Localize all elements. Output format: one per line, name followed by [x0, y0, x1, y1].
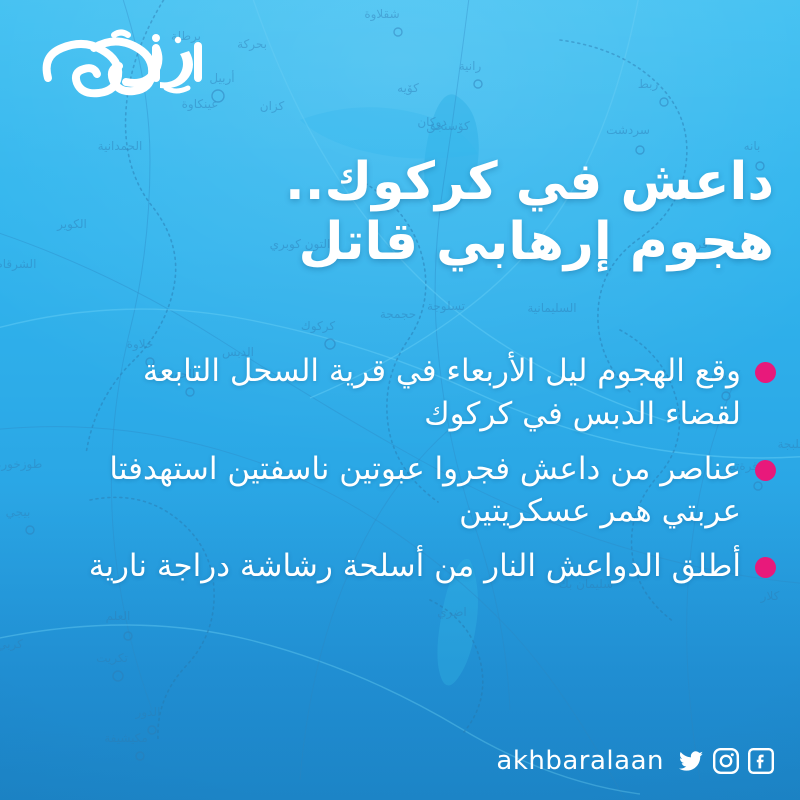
map-label: العلم [106, 609, 131, 623]
map-label: الشرقاط [0, 257, 36, 272]
akhbar-alaan-logo[interactable] [28, 26, 218, 104]
map-label: رانية [459, 59, 482, 74]
headline-line-1: داعش في كركوك.. [285, 152, 774, 212]
news-card: شقلاوةبحركةبرطلةرانيةأربيلكۆیەكۆسنجقعينك… [0, 0, 800, 800]
map-label: الكوير [56, 217, 87, 232]
map-label: طوزخورماتو [0, 457, 42, 472]
map-label: سردشت [606, 123, 650, 138]
bullet-text: أطلق الدواعش النار من أسلحة رشاشة دراجة … [76, 545, 741, 588]
map-label: تكريت [96, 651, 128, 666]
bullet-dot-icon [755, 362, 776, 383]
map-label: بحركة [237, 37, 267, 52]
map-label: اضري [437, 605, 467, 620]
map-label: مكيشيفة [104, 731, 148, 745]
map-label: كزان [260, 99, 285, 114]
map-label: كربي [0, 637, 23, 652]
page-title: داعش في كركوك.. هجوم إرهابي قاتل [174, 152, 774, 273]
map-label: كۆیە [397, 81, 419, 96]
bullet-text: وقع الهجوم ليل الأربعاء في قرية السحل ال… [76, 350, 741, 436]
map-label: دوكان [417, 115, 446, 130]
headline-line-2: هجوم إرهابي قاتل [174, 212, 774, 272]
social-footer: akhbaralaan [496, 748, 774, 774]
bullet-text: عناصر من داعش فجروا عبوتين ناسفتين استهد… [76, 448, 741, 534]
map-label: الدور [135, 705, 161, 720]
instagram-icon[interactable] [713, 748, 739, 774]
bullet-list: وقع الهجوم ليل الأربعاء في قرية السحل ال… [76, 350, 776, 600]
map-label: بلبجة [777, 437, 800, 451]
map-label: ربط [638, 77, 659, 92]
facebook-icon[interactable] [748, 748, 774, 774]
bullet-dot-icon [755, 460, 776, 481]
map-label: كركوك [301, 319, 335, 334]
list-item: عناصر من داعش فجروا عبوتين ناسفتين استهد… [76, 448, 776, 534]
map-label: الحمدانية [98, 139, 143, 153]
map-label: بانه [744, 139, 761, 153]
list-item: وقع الهجوم ليل الأربعاء في قرية السحل ال… [76, 350, 776, 436]
map-label: السليمانية [527, 301, 576, 315]
map-label: حجمجة [380, 307, 416, 321]
map-label: شقلاوة [364, 7, 399, 22]
bullet-dot-icon [755, 557, 776, 578]
social-handle[interactable]: akhbaralaan [496, 748, 664, 774]
list-item: أطلق الدواعش النار من أسلحة رشاشة دراجة … [76, 545, 776, 588]
map-label: تسلوجة [427, 299, 465, 314]
map-label: بيجي [6, 505, 31, 519]
twitter-icon[interactable] [678, 748, 704, 774]
